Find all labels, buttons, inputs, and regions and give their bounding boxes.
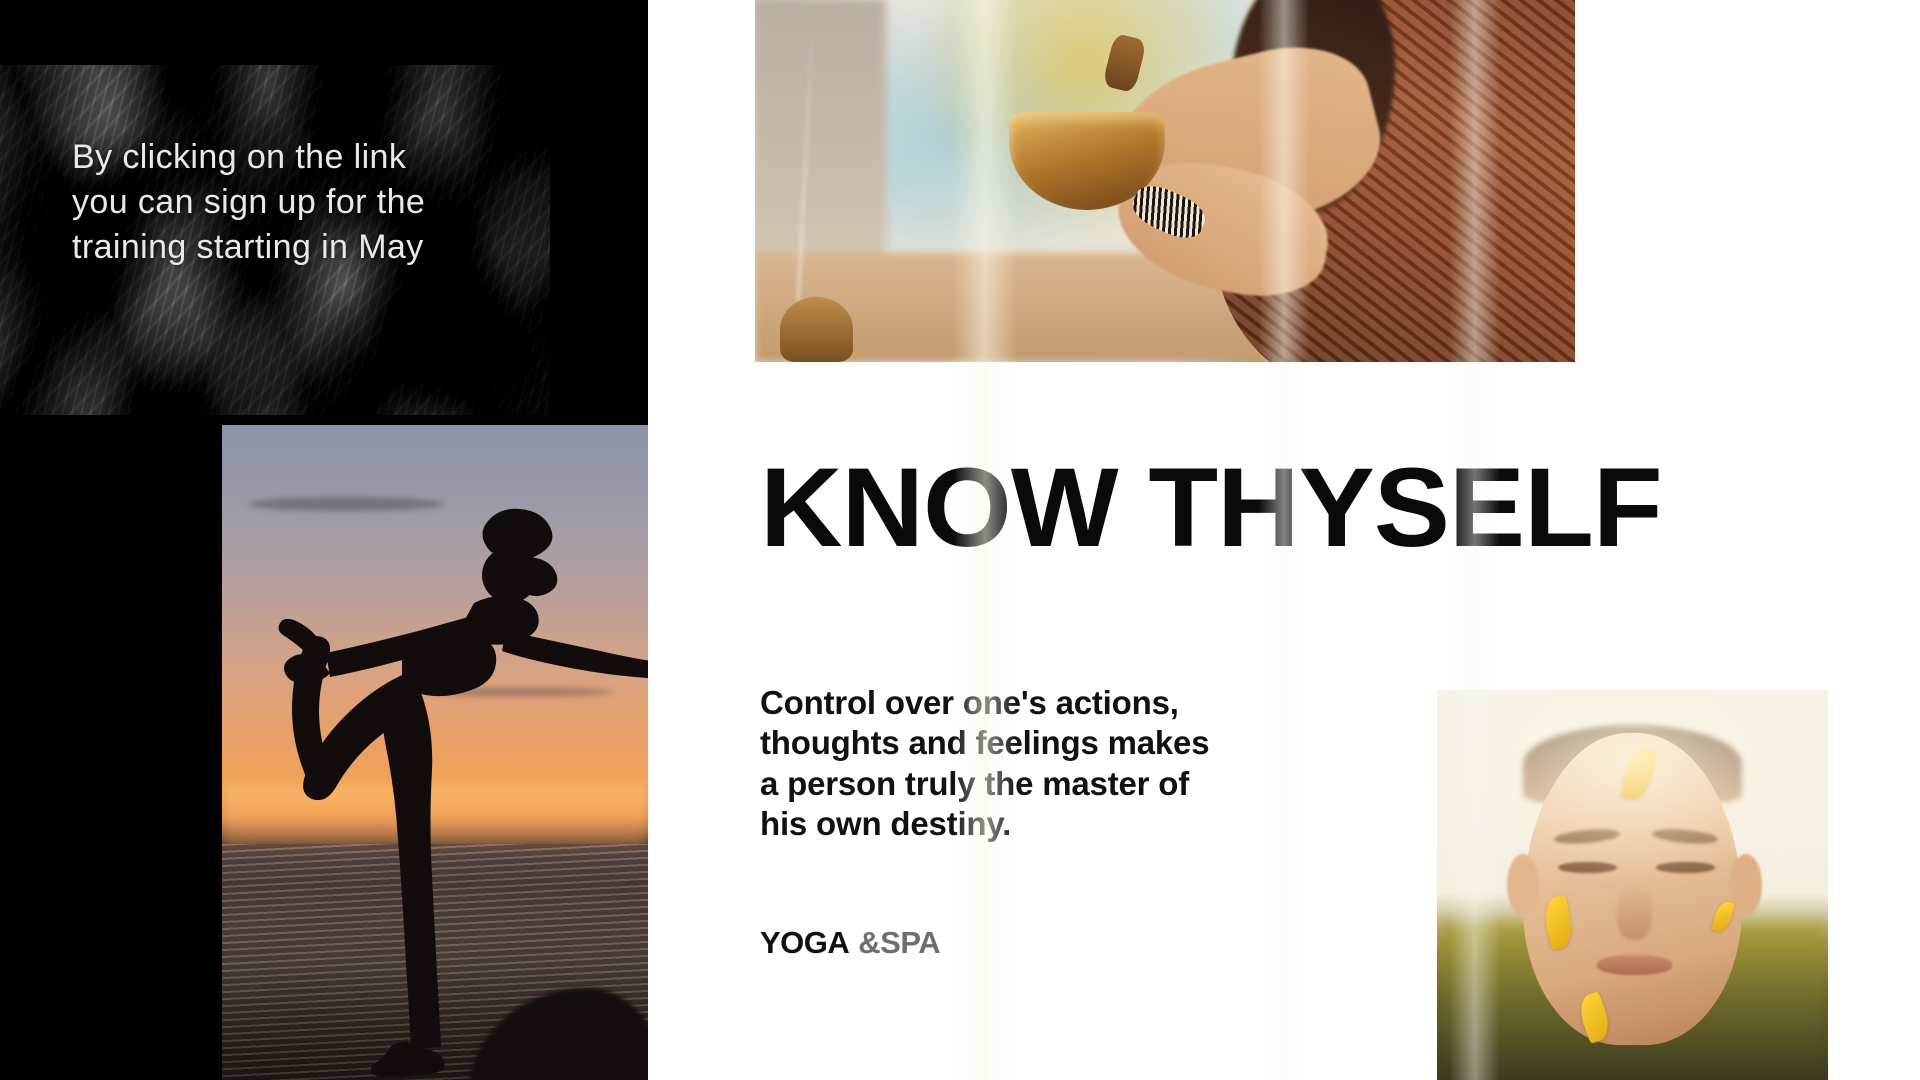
eye-left-closed-shape xyxy=(1558,862,1617,874)
nose-shape xyxy=(1617,885,1652,940)
incense-holder xyxy=(780,297,854,362)
face-with-petals-image xyxy=(1437,690,1828,1080)
body-paragraph: Control over one's actions, thoughts and… xyxy=(760,683,1280,844)
yoga-figure-silhouette xyxy=(222,425,648,1080)
promo-text: By clicking on the link you can sign up … xyxy=(72,135,542,270)
brand-secondary-text: &SPA xyxy=(858,925,940,961)
yoga-silhouette-image xyxy=(222,425,648,1080)
brand-logo: YOGA &SPA xyxy=(760,925,940,961)
right-content-panel: KNOW THYSELF Control over one's actions,… xyxy=(648,0,1920,1080)
left-dark-panel: By clicking on the link you can sign up … xyxy=(0,0,648,1080)
ear-left-shape xyxy=(1507,854,1538,916)
brand-primary-text: YOGA xyxy=(760,925,849,961)
mouth-shape xyxy=(1597,955,1671,975)
eye-right-closed-shape xyxy=(1656,862,1715,874)
ear-right-shape xyxy=(1730,854,1761,916)
singing-bowl-image xyxy=(755,0,1575,362)
page-title: KNOW THYSELF xyxy=(760,452,1662,564)
